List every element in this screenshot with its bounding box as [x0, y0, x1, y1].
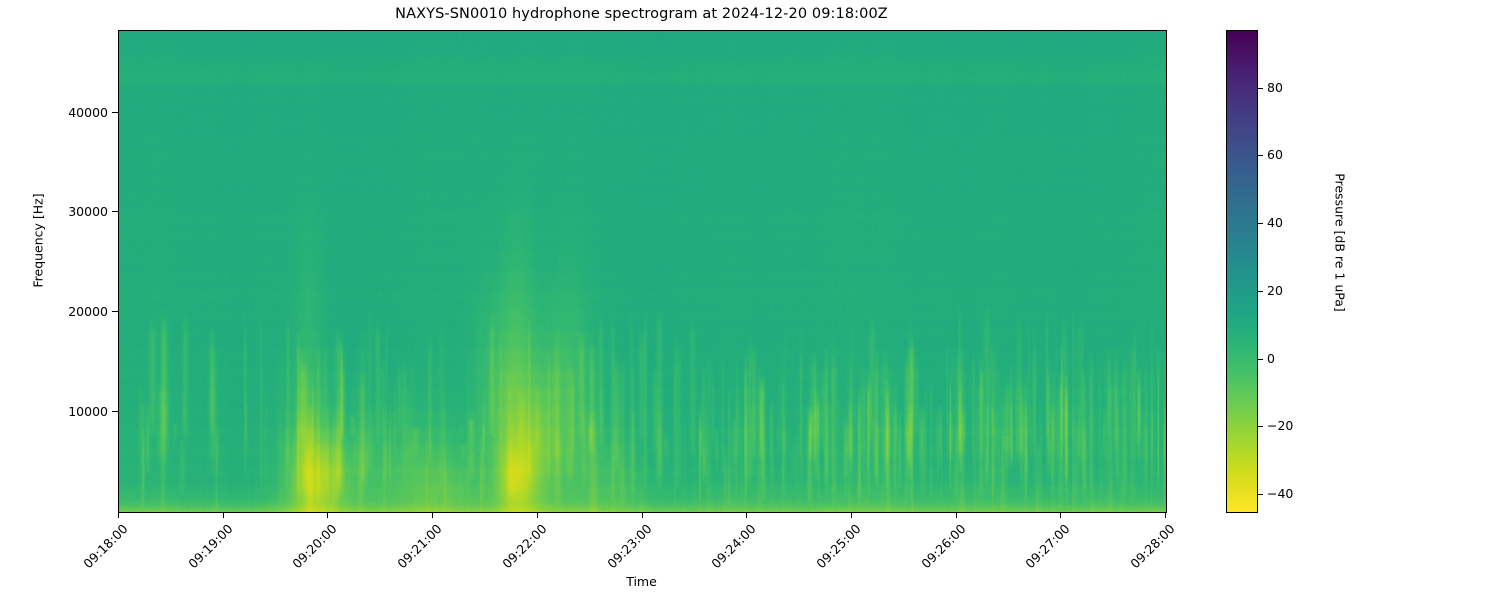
colorbar-tick-mark [1258, 291, 1263, 292]
x-tick-mark [223, 512, 224, 518]
x-tick-label: 09:20:00 [284, 521, 340, 577]
x-tick-label: 09:21:00 [389, 521, 445, 577]
colorbar-tick-label: −40 [1267, 486, 1293, 501]
x-tick-label: 09:18:00 [75, 521, 131, 577]
x-tick-mark [956, 512, 957, 518]
colorbar-tick-label: 60 [1267, 147, 1283, 162]
x-tick-label: 09:22:00 [494, 521, 550, 577]
page-title: NAXYS-SN0010 hydrophone spectrogram at 2… [0, 6, 1283, 22]
colorbar-tick-mark [1258, 223, 1263, 224]
y-tick-label: 20000 [68, 304, 108, 319]
y-tick-mark [112, 211, 118, 212]
colorbar-tick-mark [1258, 426, 1263, 427]
colorbar-tick-mark [1258, 155, 1263, 156]
x-tick-label: 09:24:00 [703, 521, 759, 577]
x-tick-mark [432, 512, 433, 518]
y-tick-mark [112, 411, 118, 412]
x-tick-label: 09:23:00 [598, 521, 654, 577]
x-tick-mark [746, 512, 747, 518]
x-tick-label: 09:19:00 [179, 521, 235, 577]
y-tick-label: 30000 [68, 204, 108, 219]
colorbar-tick-label: −20 [1267, 418, 1293, 433]
spectrogram-plot-area [118, 30, 1167, 513]
x-tick-mark [1165, 512, 1166, 518]
colorbar-tick-label: 40 [1267, 215, 1283, 230]
y-tick-label: 10000 [68, 404, 108, 419]
colorbar-tick-label: 0 [1267, 351, 1275, 366]
y-tick-label: 40000 [68, 105, 108, 120]
spectrogram-image [119, 31, 1166, 512]
x-tick-label: 09:26:00 [912, 521, 968, 577]
x-tick-mark [327, 512, 328, 518]
colorbar-tick-mark [1258, 88, 1263, 89]
x-axis-label: Time [118, 574, 1165, 589]
colorbar-gradient [1227, 31, 1257, 512]
x-tick-mark [642, 512, 643, 518]
spectrogram-figure: NAXYS-SN0010 hydrophone spectrogram at 2… [0, 0, 1500, 600]
colorbar-label: Pressure [dB re 1 uPa] [1333, 103, 1348, 383]
x-tick-mark [537, 512, 538, 518]
colorbar-tick-mark [1258, 494, 1263, 495]
x-tick-mark [851, 512, 852, 518]
x-tick-label: 09:25:00 [808, 521, 864, 577]
colorbar-tick-mark [1258, 359, 1263, 360]
y-tick-mark [112, 311, 118, 312]
colorbar-tick-label: 80 [1267, 80, 1283, 95]
x-tick-mark [1060, 512, 1061, 518]
x-tick-label: 09:27:00 [1017, 521, 1073, 577]
x-tick-mark [118, 512, 119, 518]
colorbar [1226, 30, 1258, 513]
x-tick-label: 09:28:00 [1122, 521, 1178, 577]
colorbar-tick-label: 20 [1267, 283, 1283, 298]
y-tick-mark [112, 112, 118, 113]
y-axis-label: Frequency [Hz] [31, 141, 46, 341]
